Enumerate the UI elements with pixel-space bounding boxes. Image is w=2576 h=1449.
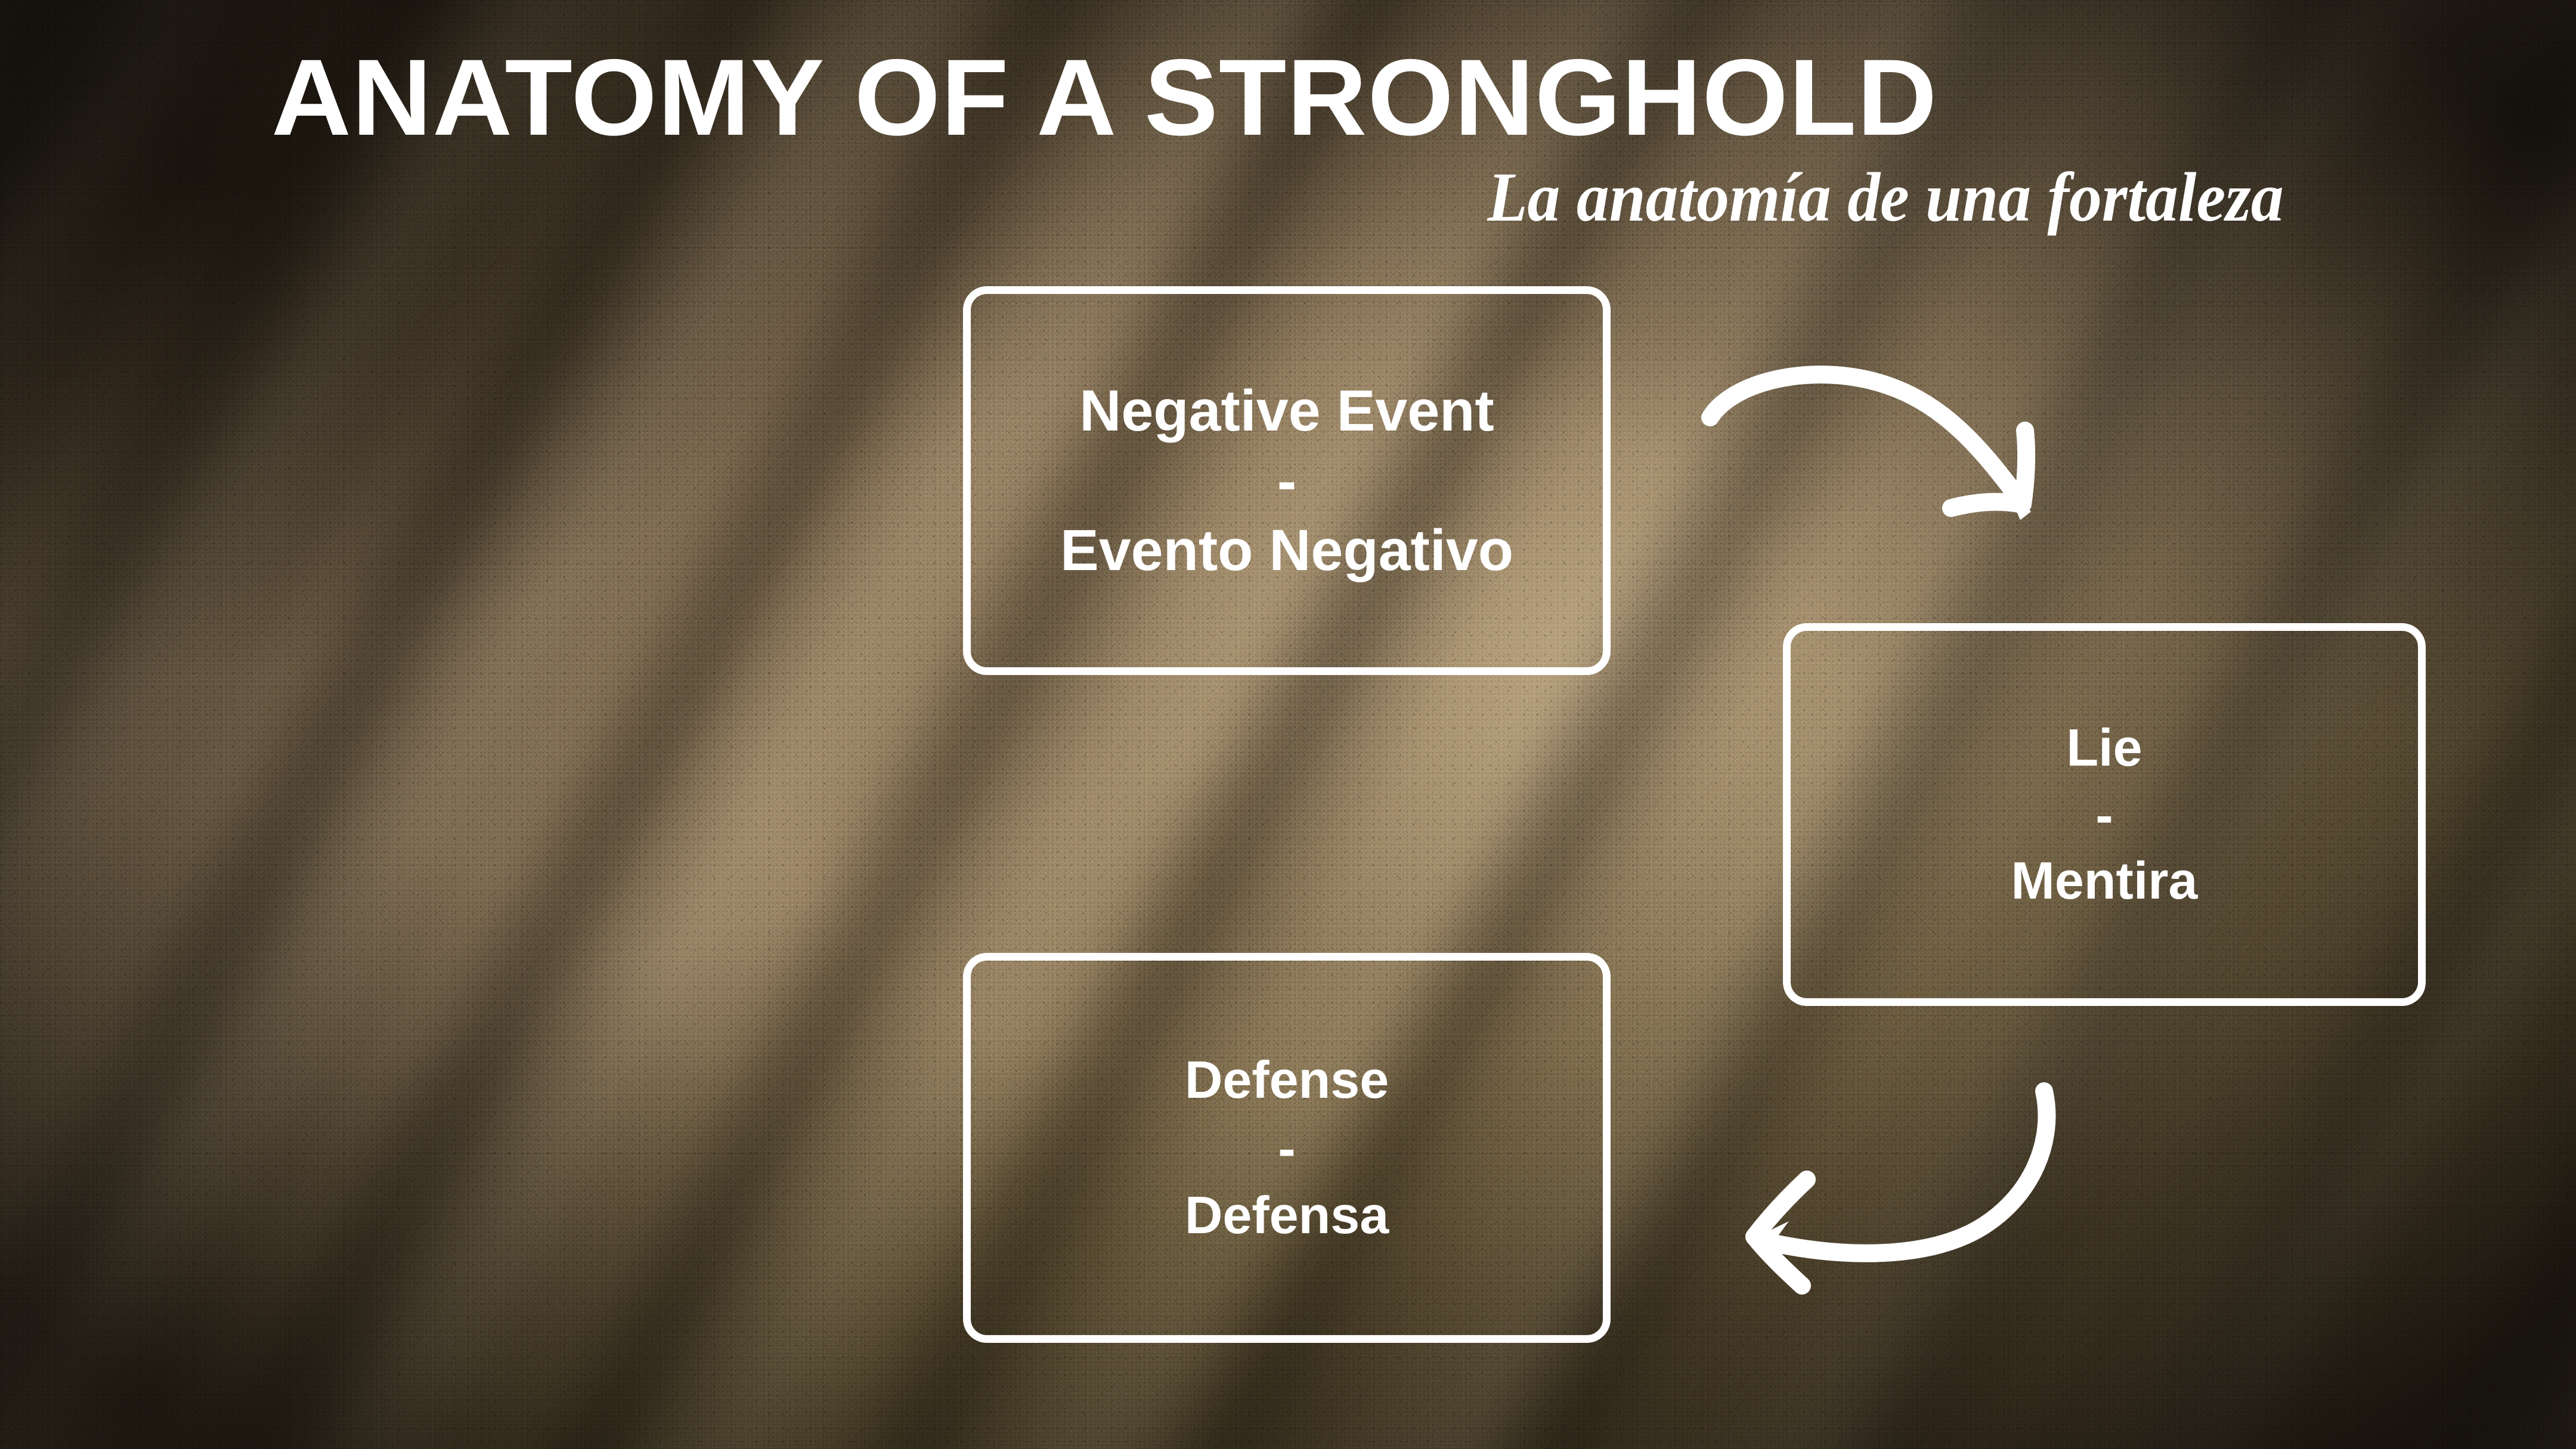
- node-separator: -: [1277, 451, 1296, 512]
- diagram-node-defense[interactable]: Defense - Defensa: [963, 953, 1611, 1343]
- slide-canvas: ANATOMY OF A STRONGHOLD La anatomía de u…: [0, 0, 2576, 1449]
- node-label-spanish: Evento Negativo: [1060, 520, 1513, 581]
- node-separator: -: [1278, 1121, 1295, 1176]
- node-separator: -: [2095, 788, 2113, 843]
- node-label-english: Negative Event: [1079, 380, 1494, 441]
- node-label-spanish: Defensa: [1185, 1188, 1389, 1243]
- node-label-spanish: Mentira: [2011, 853, 2198, 908]
- node-label-english: Lie: [2066, 720, 2142, 775]
- node-label-english: Defense: [1185, 1052, 1389, 1107]
- diagram-node-negative-event[interactable]: Negative Event - Evento Negativo: [963, 286, 1611, 675]
- diagram-node-lie[interactable]: Lie - Mentira: [1783, 623, 2426, 1006]
